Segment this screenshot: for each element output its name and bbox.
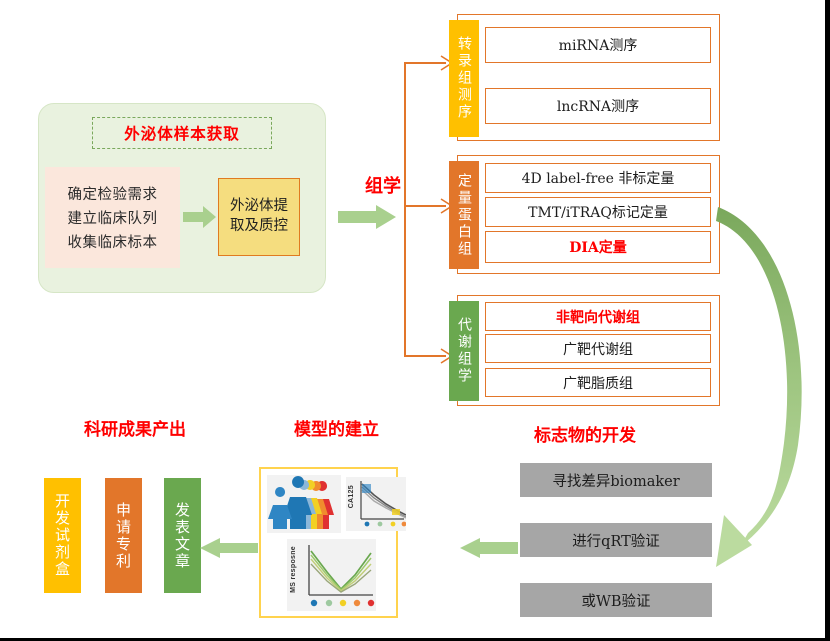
omics-item-4d-label-free[interactable]: 4D label-free 非标定量 [485,163,711,193]
clinical-step-3: 收集临床标本 [68,231,158,252]
people-group-image [267,475,341,533]
omics-label-transcriptome: 转录组测序 [449,20,479,137]
clinical-step-1: 确定检验需求 [68,183,158,204]
extract-line-1: 外泌体提 [230,197,288,217]
chart-ca125: CA125 [346,477,406,531]
arrow-right-icon [183,206,216,228]
heading-marker-development: 标志物的开发 [534,421,636,446]
exosome-extraction-box: 外泌体提 取及质控 [218,178,300,256]
marker-step-wb-validation[interactable]: 或WB验证 [520,583,712,617]
omics-item-wide-targeted-lipidome[interactable]: 广靶脂质组 [485,368,711,397]
sample-acquisition-title: 外泌体样本获取 [92,117,272,149]
marker-step-qrt-validation[interactable]: 进行qRT验证 [520,523,712,557]
arrow-left-icon [200,538,258,558]
output-box-publish-paper[interactable]: 发表文章 [164,478,201,593]
extract-line-2: 取及质控 [230,217,288,237]
output-box-develop-kit[interactable]: 开发试剂盒 [44,478,81,593]
marker-step-find-biomarker[interactable]: 寻找差异biomaker [520,463,712,497]
omics-label-proteome: 定量蛋白组 [449,161,479,269]
heading-research-output: 科研成果产出 [84,415,186,440]
omics-item-mirna[interactable]: miRNA测序 [485,27,711,63]
curved-arrow-icon [690,195,825,575]
omics-item-wide-targeted-metabolome[interactable]: 广靶代谢组 [485,334,711,363]
output-box-apply-patent[interactable]: 申请专利 [105,478,142,593]
clinical-steps-box: 确定检验需求 建立临床队列 收集临床标本 [45,167,180,268]
omics-label-metabolome: 代谢组学 [449,301,479,401]
arrow-right-icon [338,205,396,229]
omics-item-untargeted-metabolome[interactable]: 非靶向代谢组 [485,302,711,331]
omics-item-tmt-itraq[interactable]: TMT/iTRAQ标记定量 [485,197,711,227]
diagram-canvas: 外泌体样本获取 确定检验需求 建立临床队列 收集临床标本 外泌体提 取及质控 组… [0,0,830,641]
omics-item-dia[interactable]: DIA定量 [485,231,711,263]
omics-item-lncrna[interactable]: lncRNA测序 [485,88,711,124]
chart-ca125-ylabel: CA125 [348,485,355,508]
clinical-step-2: 建立临床队列 [68,207,158,228]
chart-ms-ylabel: MS resposne [290,546,297,593]
arrow-left-icon [460,538,518,558]
chart-ms-response: MS resposne [287,539,376,611]
heading-model-building: 模型的建立 [294,415,379,440]
branch-vertical-line [404,63,406,356]
model-building-panel: CA125 MS resposne [259,467,398,618]
omics-connector-label: 组学 [348,172,418,198]
